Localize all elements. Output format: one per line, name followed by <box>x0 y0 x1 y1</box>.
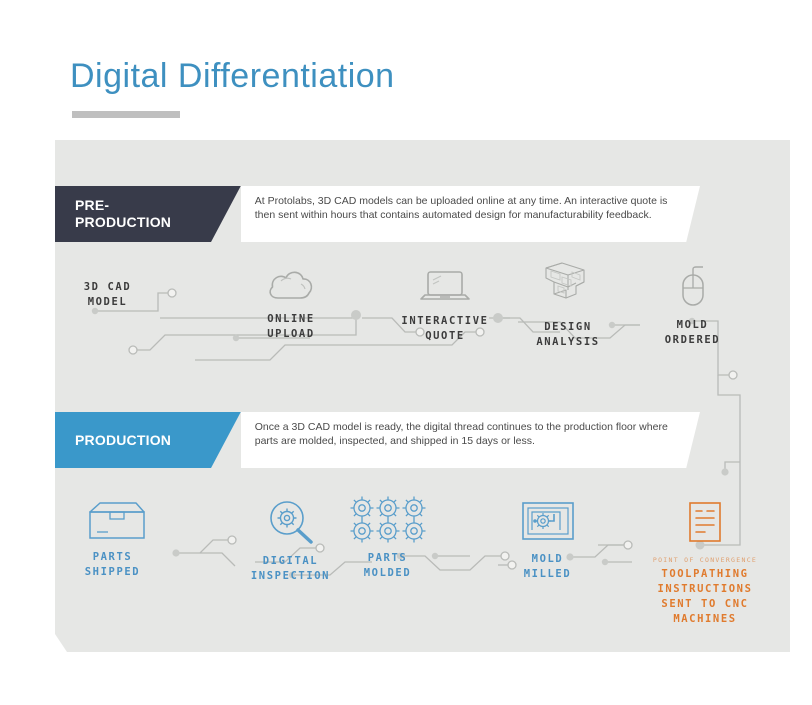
step-label: MOLD MILLED <box>495 552 600 582</box>
cloud-upload-icon <box>265 266 317 304</box>
step-mold-milled[interactable]: MOLD MILLED <box>495 500 600 582</box>
laptop-icon <box>417 268 473 306</box>
banner-tab-label-line2: PRODUCTION <box>75 214 171 231</box>
step-label: PARTS MOLDED <box>335 551 440 581</box>
step-label: ONLINE UPLOAD <box>232 312 350 342</box>
page-title: Digital Differentiation <box>70 57 395 96</box>
banner-tab-label-line1: PRE- <box>75 197 171 214</box>
banner-tab-pre-production: PRE- PRODUCTION <box>55 186 241 242</box>
mold-frame-gear-icon <box>519 500 577 544</box>
step-label: TOOLPATHING INSTRUCTIONS SENT TO CNC MAC… <box>620 567 790 627</box>
step-interactive-quote[interactable]: INTERACTIVE QUOTE <box>380 268 510 344</box>
step-label: INTERACTIVE QUOTE <box>380 314 510 344</box>
step-label: 3D CAD MODEL <box>55 280 160 310</box>
section-banner-pre-production: PRE- PRODUCTION At Protolabs, 3D CAD mod… <box>55 186 700 242</box>
gears-grid-icon <box>349 495 427 543</box>
step-parts-shipped[interactable]: PARTS SHIPPED <box>55 500 170 580</box>
convergence-eyebrow: POINT OF CONVERGENCE <box>620 556 790 564</box>
banner-tab-label-line1: PRODUCTION <box>75 432 171 449</box>
step-label: PARTS SHIPPED <box>55 550 170 580</box>
step-label: DESIGN ANALYSIS <box>512 320 624 350</box>
step-parts-molded[interactable]: PARTS MOLDED <box>335 495 440 581</box>
banner-body-production: Once a 3D CAD model is ready, the digita… <box>241 412 700 468</box>
section-banner-production: PRODUCTION Once a 3D CAD model is ready,… <box>55 412 700 468</box>
step-online-upload[interactable]: ONLINE UPLOAD <box>232 266 350 342</box>
mesh-block-icon <box>538 260 598 312</box>
step-label: MOLD ORDERED <box>640 318 745 348</box>
slide-root: Digital Differentiation <box>0 0 812 705</box>
computer-mouse-icon <box>672 266 714 310</box>
title-underline-rule <box>72 111 180 118</box>
banner-tab-production: PRODUCTION <box>55 412 241 468</box>
shipping-box-icon <box>78 500 148 542</box>
document-lines-icon <box>685 500 725 548</box>
step-3d-cad-model[interactable]: 3D CAD MODEL <box>55 272 160 310</box>
step-toolpathing-convergence[interactable]: POINT OF CONVERGENCE TOOLPATHING INSTRUC… <box>620 500 790 627</box>
step-design-analysis[interactable]: DESIGN ANALYSIS <box>512 260 624 350</box>
step-mold-ordered[interactable]: MOLD ORDERED <box>640 266 745 348</box>
banner-body-pre-production: At Protolabs, 3D CAD models can be uploa… <box>241 186 700 242</box>
magnifier-gear-icon <box>263 498 319 546</box>
